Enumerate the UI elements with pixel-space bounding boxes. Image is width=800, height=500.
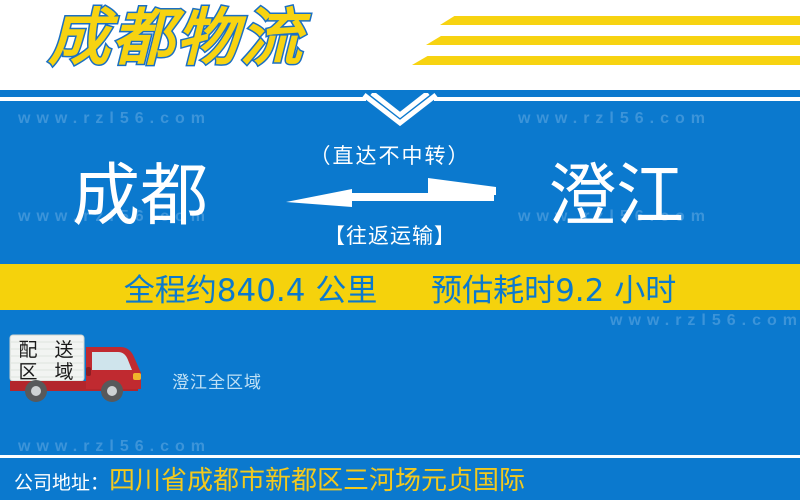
svg-text:送: 送: [54, 339, 73, 361]
page-title: 成都物流: [48, 2, 304, 73]
divider-left: [0, 97, 366, 101]
company-address: 公司地址：四川省成都市新都区三河场元贞国际: [14, 464, 525, 499]
stripe-1: [440, 16, 800, 25]
bidirectional-arrow-wrap: [280, 178, 500, 218]
double-arrow-horizontal-icon: [280, 178, 500, 218]
decorative-stripes: [420, 14, 800, 76]
roundtrip-note: 【往返运输】: [280, 220, 500, 250]
footer-divider: [0, 455, 800, 458]
svg-text:配: 配: [18, 339, 37, 361]
duration-text: 预估耗时9.2 小时: [431, 273, 676, 309]
destination-city: 澄江: [548, 163, 684, 231]
stripe-3: [412, 56, 800, 65]
address-value: 四川省成都市新都区三河场元贞国际: [109, 466, 525, 496]
red-delivery-truck-icon: 配 送 区 域: [8, 333, 158, 403]
origin-city: 成都: [72, 163, 208, 231]
svg-text:域: 域: [54, 361, 73, 383]
address-label: 公司地址：: [14, 472, 109, 494]
poster-root: 成都物流 www.rzl56.com www.rzl56.com www.rzl…: [0, 0, 800, 500]
svg-text:区: 区: [18, 361, 37, 383]
header-bar: 成都物流: [0, 0, 800, 90]
direct-note: （直达不中转）: [280, 140, 500, 170]
metrics-bar: 全程约840.4 公里 预估耗时9.2 小时: [0, 264, 800, 310]
metrics-inner: 全程约840.4 公里 预估耗时9.2 小时: [124, 265, 676, 310]
watermark: www.rzl56.com: [518, 110, 711, 128]
route-middle-block: （直达不中转） 【往返运输】: [280, 140, 500, 250]
watermark: www.rzl56.com: [18, 110, 211, 128]
distance-text: 全程约840.4 公里: [124, 273, 378, 309]
watermark: www.rzl56.com: [610, 312, 800, 330]
stripe-2: [426, 36, 800, 45]
coverage-label: 澄江全区域: [172, 368, 262, 393]
divider-right: [434, 97, 800, 101]
double-chevron-down-icon: [360, 93, 440, 133]
watermark: www.rzl56.com: [18, 438, 211, 456]
